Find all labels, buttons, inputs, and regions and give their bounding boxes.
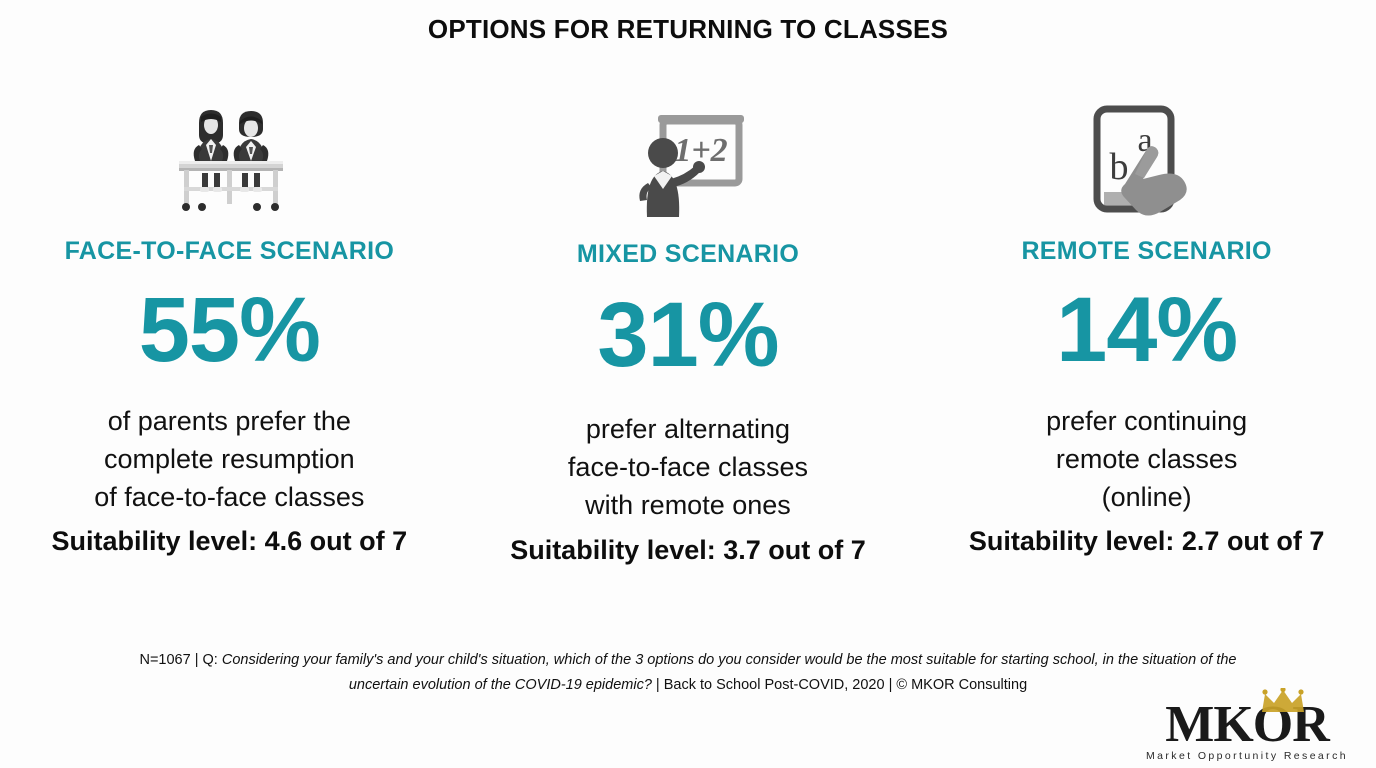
description-mixed: prefer alternating face-to-face classes …	[568, 410, 808, 524]
teacher-whiteboard-icon: 1+2	[627, 90, 749, 230]
mkor-logo: MKOR Market Opportunity Research	[1132, 701, 1362, 762]
percent-value-remote: 14%	[1056, 284, 1237, 376]
scenario-label-mixed: MIXED SCENARIO	[577, 241, 799, 269]
logo-mark: MKOR	[1132, 701, 1362, 749]
scenario-column-mixed: 1+2 MIXED SCENARIO 31% prefer alternatin…	[459, 90, 918, 566]
percent-value-mixed: 31%	[597, 289, 778, 381]
description-line: prefer continuing	[1046, 402, 1247, 440]
description-remote: prefer continuing remote classes (online…	[1046, 402, 1247, 516]
scenario-column-face-to-face: FACE-TO-FACE SCENARIO 55% of parents pre…	[0, 90, 459, 557]
description-line: with remote ones	[568, 486, 808, 524]
suitability-face-to-face: Suitability level: 4.6 out of 7	[52, 526, 408, 557]
tablet-hand-icon: a b	[1085, 90, 1209, 230]
suitability-remote: Suitability level: 2.7 out of 7	[969, 526, 1325, 557]
description-line: (online)	[1046, 478, 1247, 516]
description-line: of parents prefer the	[94, 402, 364, 440]
footnote: N=1067 | Q: Considering your family's an…	[133, 648, 1243, 698]
scenario-column-remote: a b REMOTE SCENARIO 14% prefer continuin…	[917, 90, 1376, 557]
page-title: OPTIONS FOR RETURNING TO CLASSES	[0, 14, 1376, 45]
scenario-label-face-to-face: FACE-TO-FACE SCENARIO	[65, 238, 394, 266]
footnote-prefix: N=1067 | Q:	[139, 652, 221, 668]
description-line: face-to-face classes	[568, 448, 808, 486]
suitability-mixed: Suitability level: 3.7 out of 7	[510, 535, 866, 566]
scenario-columns: FACE-TO-FACE SCENARIO 55% of parents pre…	[0, 90, 1376, 566]
svg-text:b: b	[1109, 146, 1128, 188]
footnote-source: | Back to School Post-COVID, 2020 | © MK…	[652, 677, 1027, 693]
description-line: of face-to-face classes	[94, 478, 364, 516]
percent-value-face-to-face: 55%	[139, 284, 320, 376]
students-at-desk-icon	[169, 90, 289, 230]
scenario-label-remote: REMOTE SCENARIO	[1021, 238, 1271, 266]
description-line: remote classes	[1046, 440, 1247, 478]
description-line: prefer alternating	[568, 410, 808, 448]
description-face-to-face: of parents prefer the complete resumptio…	[94, 402, 364, 516]
description-line: complete resumption	[94, 440, 364, 478]
crown-icon	[1260, 688, 1306, 714]
